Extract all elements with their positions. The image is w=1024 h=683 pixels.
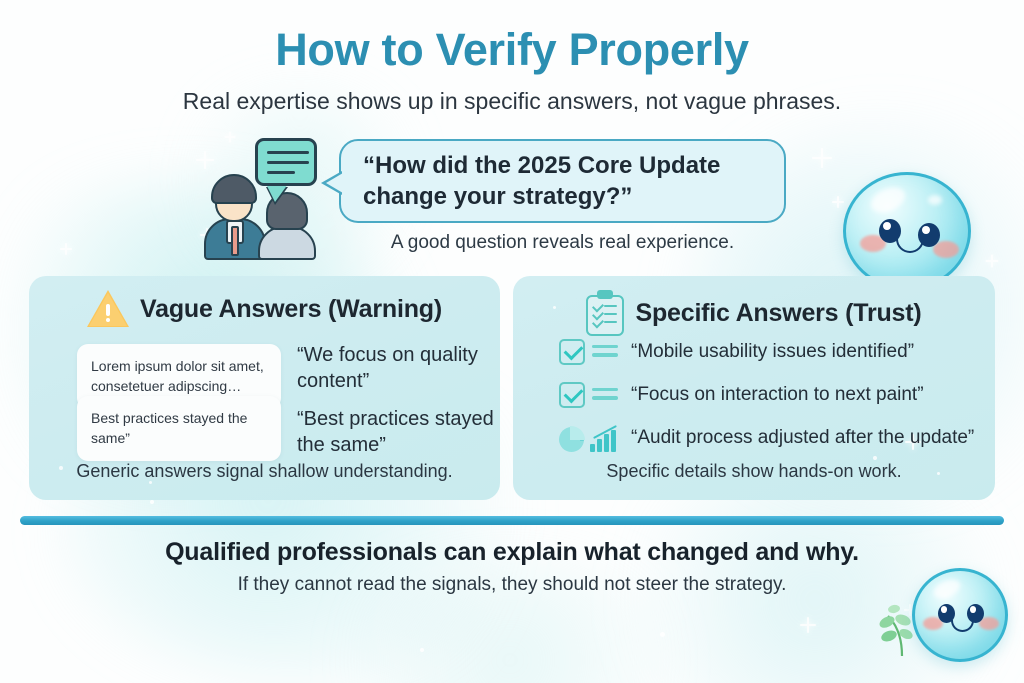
person-second-icon [258,192,316,260]
list-item: “Focus on interaction to next paint” [559,381,979,409]
list-item-label: “Focus on interaction to next paint” [631,384,924,407]
specific-answers-list: “Mobile usability issues identified” “Fo… [559,338,979,467]
list-item-label: “Audit process adjusted after the update… [631,427,974,450]
chat-bubble-icon [255,138,317,186]
person-male-icon [204,174,266,260]
footer-subline: If they cannot read the signals, they sh… [0,574,1024,596]
question-text: “How did the 2025 Core Update change you… [341,150,784,212]
list-item-label: “Mobile usability issues identified” [631,341,914,364]
infographic-page: How to Verify Properly Real expertise sh… [0,0,1024,683]
sparkle-icon [985,254,998,267]
hero-caption: A good question reveals real experience. [339,232,786,254]
sparkle-icon [832,196,844,208]
section-divider [20,516,1004,525]
two-people-icon [200,140,320,260]
smiling-blob-mascot-icon [843,172,971,290]
list-item: “Audit process adjusted after the update… [559,424,979,452]
card-footer-note: Generic answers signal shallow understan… [29,461,500,482]
list-item: “Mobile usability issues identified” [559,338,979,366]
sparkle-dot [420,648,424,652]
vague-quote: “Best practices stayed the same” [297,406,497,459]
smiling-blob-mascot-icon [912,568,1008,662]
vague-quote: “We focus on quality content” [297,342,497,395]
sparkle-dot [150,500,154,504]
page-title: How to Verify Properly [0,27,1024,72]
checkbox-checked-icon [559,338,631,366]
sparkle-icon [800,617,816,633]
card-title: Vague Answers (Warning) [140,295,442,324]
card-header: Specific Answers (Trust) [513,290,995,336]
card-header: Vague Answers (Warning) [29,290,500,328]
page-subtitle: Real expertise shows up in specific answ… [0,88,1024,116]
warning-triangle-icon [87,290,129,328]
footer-headline: Qualified professionals can explain what… [0,538,1024,567]
card-vague-answers: Vague Answers (Warning) Lorem ipsum dolo… [29,276,500,500]
clipboard-checklist-icon [586,290,624,336]
checkbox-checked-icon [559,381,631,409]
speech-bubble-tail-fill [326,173,343,193]
card-title: Specific Answers (Trust) [635,299,921,328]
chat-bubble-tail-icon [266,184,288,202]
placeholder-pill: Best practices stayed the same” [77,396,281,461]
sparkle-icon [60,243,72,255]
pie-bar-chart-icon [559,424,631,452]
sparkle-icon [812,148,832,168]
sparkle-dot [660,632,665,637]
card-footer-note: Specific details show hands-on work. [513,461,995,482]
question-speech-bubble: “How did the 2025 Core Update change you… [339,139,786,223]
card-specific-answers: Specific Answers (Trust) “Mobile usabili… [513,276,995,500]
